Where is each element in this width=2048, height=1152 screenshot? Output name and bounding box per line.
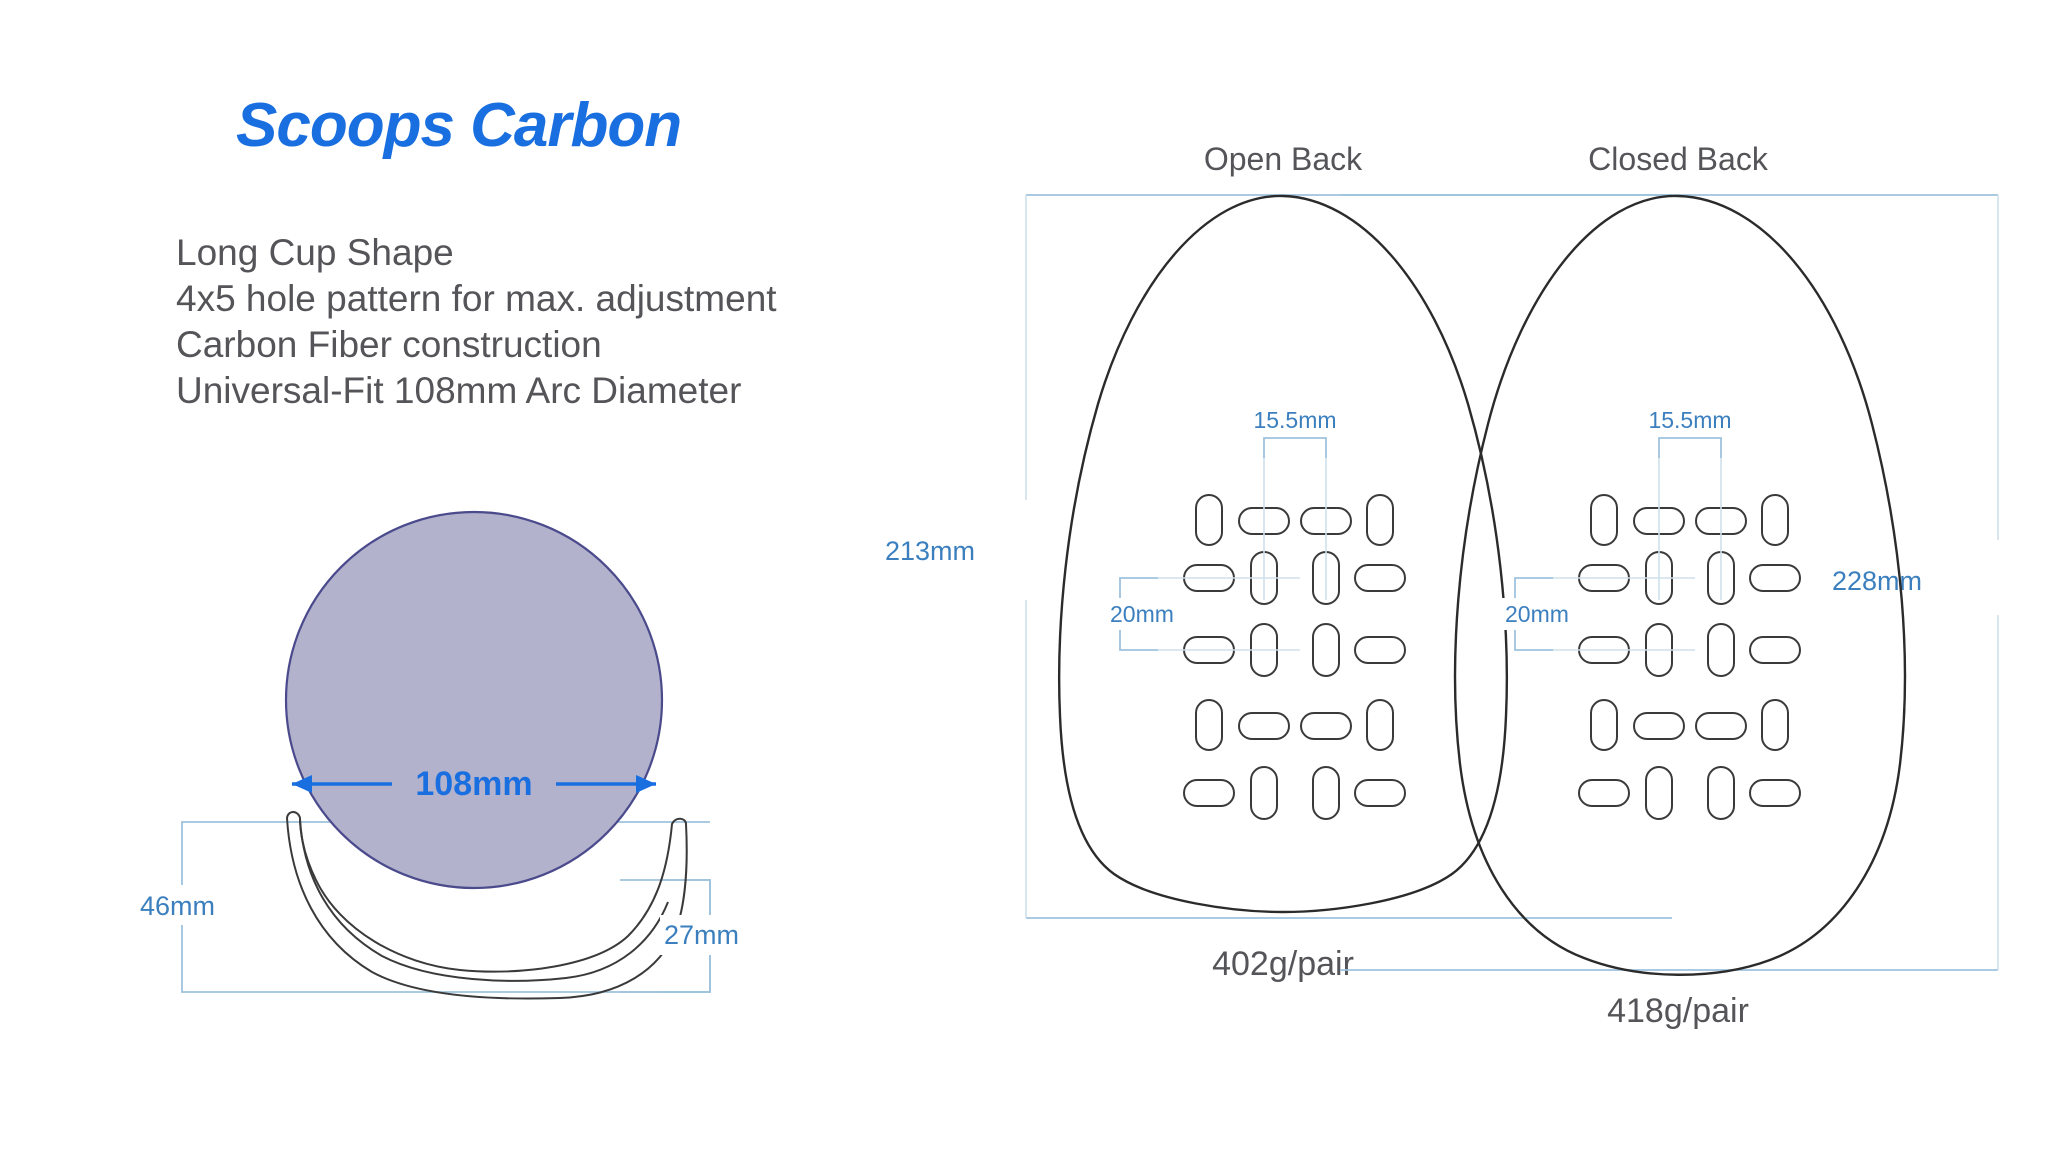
product-spec-sheet: Scoops Carbon Long Cup Shape 4x5 hole pa…: [0, 0, 2048, 1152]
open-back-plate-drawing: Open Back 213mm: [885, 141, 1672, 983]
closed-back-pitch-y-label: 20mm: [1505, 601, 1569, 627]
open-back-weight-label: 402g/pair: [1212, 945, 1354, 983]
open-back-pitch-y-label: 20mm: [1110, 601, 1174, 627]
cup-profile-drawing: 108mm 46mm 27mm: [136, 512, 776, 999]
arc-diameter-label: 108mm: [415, 765, 532, 803]
closed-back-pitch-x-dimension: [1659, 438, 1721, 600]
open-back-outline: [1059, 196, 1507, 912]
cup-depth-label: 27mm: [664, 920, 739, 950]
closed-back-plate-drawing: Closed Back 228mm: [1340, 141, 1998, 1030]
open-back-hole-pattern: [1184, 495, 1405, 819]
closed-back-hole-pattern: [1579, 495, 1800, 819]
technical-drawing: 108mm 46mm 27mm Open Back 213mm: [0, 0, 2048, 1152]
cup-height-label: 46mm: [140, 891, 215, 921]
open-back-title: Open Back: [1204, 141, 1363, 177]
arc-diameter-disc: [286, 512, 662, 888]
closed-back-weight-label: 418g/pair: [1607, 992, 1749, 1030]
closed-back-pitch-x-label: 15.5mm: [1648, 407, 1731, 433]
closed-back-title: Closed Back: [1588, 141, 1769, 177]
open-back-pitch-x-label: 15.5mm: [1253, 407, 1336, 433]
closed-back-height-label: 228mm: [1832, 566, 1922, 596]
open-back-pitch-x-dimension: [1264, 438, 1326, 600]
open-back-height-label: 213mm: [885, 536, 975, 566]
